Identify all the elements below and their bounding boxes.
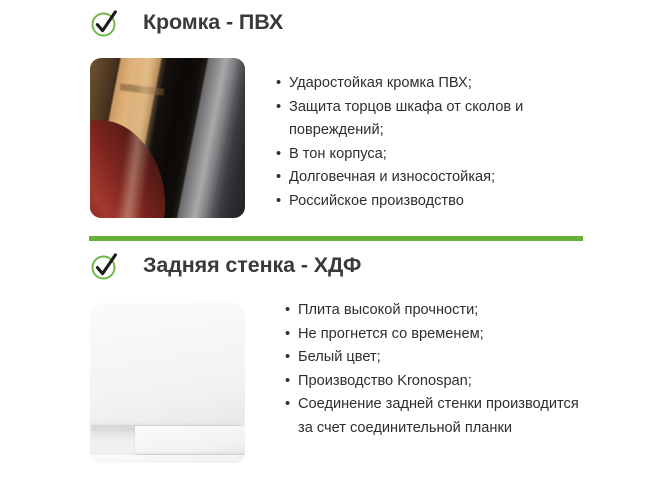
list-item: Российское производство [276,190,576,214]
list-item: Ударостойкая кромка ПВХ; [276,72,576,96]
section-edge-pvc: Кромка - ПВХ Ударостойкая кромка ПВХ; За… [0,0,652,46]
list-item: В тон корпуса; [276,143,576,167]
list-item: Соединение задней стенки производится за… [285,393,585,440]
list-item: Плита высокой прочности; [285,299,585,323]
list-item: Белый цвет; [285,346,585,370]
list-item: Не прогнется со временем; [285,323,585,347]
section-header: Кромка - ПВХ [0,0,652,46]
product-image-edge-pvc [90,58,245,218]
list-item: Защита торцов шкафа от сколов и поврежде… [276,96,576,143]
page-title: Задняя стенка - ХДФ [89,254,361,278]
check-circle-icon [89,250,121,282]
hdf-board-top [90,303,245,425]
hdf-board-edge [90,441,245,444]
section-header: Задняя стенка - ХДФ [0,243,652,289]
feature-list-edge-pvc: Ударостойкая кромка ПВХ; Защита торцов ш… [276,72,576,213]
list-item: Долговечная и износостойкая; [276,166,576,190]
list-item: Производство Kronospan; [285,370,585,394]
features-page: Кромка - ПВХ Ударостойкая кромка ПВХ; За… [0,0,652,500]
hdf-board-bottom [90,455,245,463]
edge-seam-detail [120,83,165,95]
hdf-board-middle [135,426,245,454]
section-back-panel-hdf: Задняя стенка - ХДФ Плита высокой прочно… [0,243,652,289]
section-divider [89,236,583,241]
product-image-back-panel-hdf [90,303,245,463]
feature-list-back-panel-hdf: Плита высокой прочности; Не прогнется со… [285,299,585,440]
check-circle-icon [89,7,121,39]
